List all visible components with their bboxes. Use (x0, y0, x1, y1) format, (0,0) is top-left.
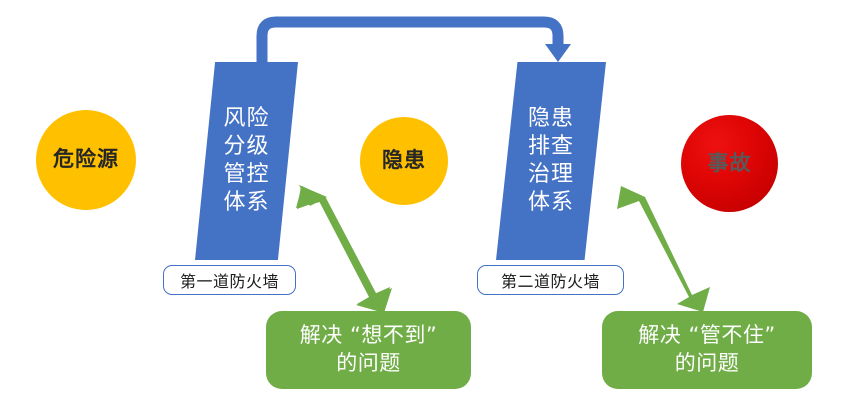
pillar-inspection-line-2: 排查 (528, 133, 574, 161)
node-hazard-source-label: 危险源 (53, 148, 119, 171)
node-accident-label: 事故 (708, 152, 752, 175)
control-to-unforeseen-arrow (296, 185, 392, 313)
outcome-solve-unforeseen-line-2: 的问题 (336, 350, 401, 378)
pillar-hazard-investigation-governance-text: 隐患 排查 治理 体系 (496, 62, 606, 260)
outcome-solve-uncontrolled-line-1: 解决 “管不住” (638, 322, 775, 350)
badge-second-firewall-label: 第二道防火墙 (501, 268, 600, 292)
pillar-inspection-line-3: 治理 (528, 161, 574, 189)
pillar-risk-grading-control[interactable]: 风险 分级 管控 体系 (195, 62, 298, 260)
pillar-hazard-investigation-governance[interactable]: 隐患 排查 治理 体系 (496, 62, 606, 260)
pillar-control-line-1: 风险 (223, 105, 269, 133)
outcome-solve-unforeseen[interactable]: 解决 “想不到” 的问题 (266, 311, 471, 389)
outcome-solve-unforeseen-line-1: 解决 “想不到” (300, 322, 437, 350)
pillar-inspection-line-4: 体系 (528, 189, 574, 217)
badge-first-firewall-label: 第一道防火墙 (180, 268, 279, 292)
outcome-solve-uncontrolled-line-2: 的问题 (675, 350, 740, 378)
node-accident[interactable]: 事故 (681, 115, 778, 212)
pillar-control-line-2: 分级 (223, 133, 269, 161)
badge-second-firewall[interactable]: 第二道防火墙 (477, 265, 624, 295)
node-hidden-danger[interactable]: 隐患 (360, 117, 448, 205)
pillar-control-line-4: 体系 (223, 189, 269, 217)
node-hidden-danger-label: 隐患 (382, 149, 426, 172)
diagram-canvas: 危险源 风险 分级 管控 体系 隐患 隐患 排查 治理 体系 事故 第一道防火墙… (0, 0, 845, 407)
badge-first-firewall[interactable]: 第一道防火墙 (163, 265, 296, 295)
pillar-risk-grading-control-text: 风险 分级 管控 体系 (195, 62, 298, 260)
pillar-inspection-line-1: 隐患 (528, 105, 574, 133)
node-hazard-source[interactable]: 危险源 (36, 110, 136, 210)
inspection-to-uncontrolled-arrow (617, 186, 710, 312)
pillar-control-line-3: 管控 (223, 161, 269, 189)
outcome-solve-uncontrolled[interactable]: 解决 “管不住” 的问题 (602, 311, 812, 389)
